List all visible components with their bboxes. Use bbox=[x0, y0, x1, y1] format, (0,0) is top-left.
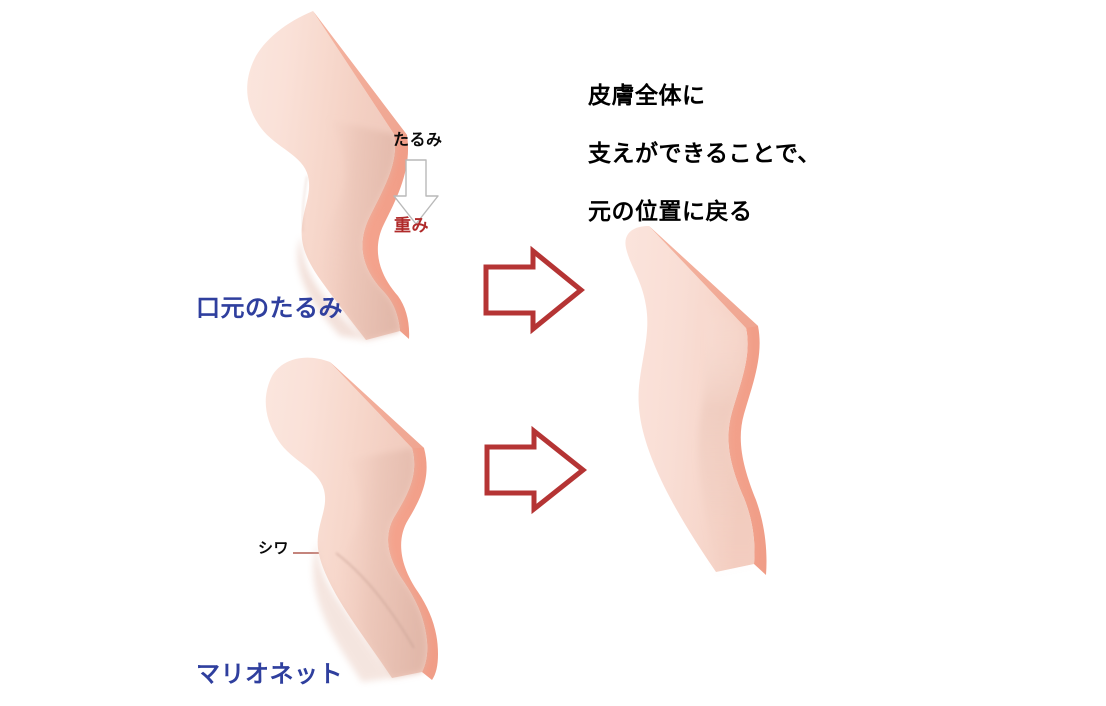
description-line-3: 元の位置に戻る bbox=[588, 192, 918, 226]
description-text-block: 皮膚全体に 支えができることで、 元の位置に戻る bbox=[588, 76, 918, 250]
transform-arrow-bottom-icon bbox=[487, 431, 583, 509]
label-marionette-line: マリオネット ライン bbox=[196, 614, 343, 706]
shape-right-supported-skin bbox=[625, 226, 766, 575]
label-kuchimoto-no-tarumi: 口元のたるみ bbox=[196, 296, 343, 320]
label-tarumi: たるみ bbox=[393, 132, 443, 148]
transform-arrow-top-icon bbox=[486, 251, 581, 329]
transform-arrow-top-shape bbox=[486, 251, 581, 329]
description-line-1: 皮膚全体に bbox=[588, 76, 918, 110]
description-line-2: 支えができることで、 bbox=[588, 134, 918, 168]
label-shiwa: シワ bbox=[258, 541, 289, 556]
label-marionette-line-1: マリオネット bbox=[196, 662, 343, 686]
transform-arrow-bottom-shape bbox=[487, 431, 583, 509]
figure-canvas: 皮膚全体に 支えができることで、 元の位置に戻る たるみ 重み 口元のたるみ シ… bbox=[0, 0, 1106, 706]
label-omomi: 重み bbox=[394, 218, 429, 235]
shape-top-left-sagging-skin bbox=[247, 11, 409, 340]
illustration-svg bbox=[0, 0, 1106, 706]
